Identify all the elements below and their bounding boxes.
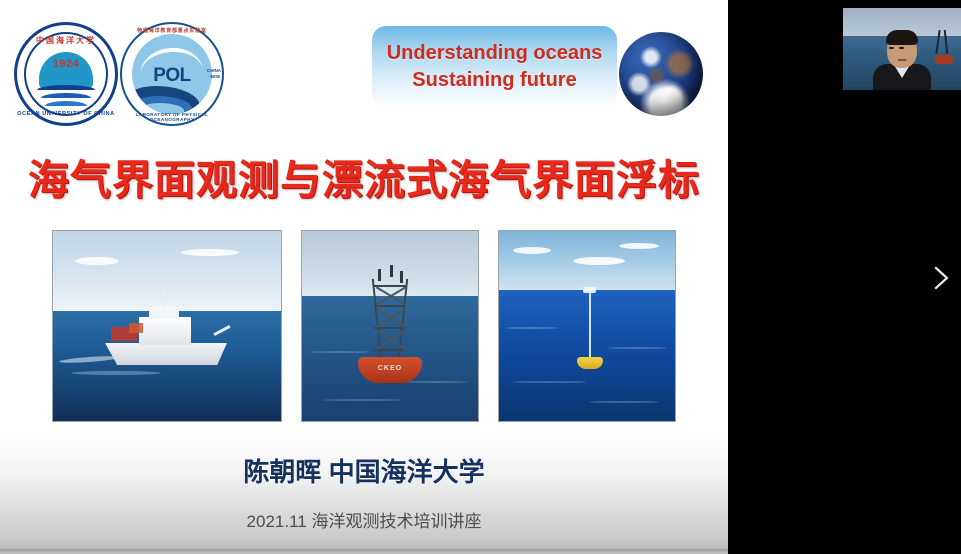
- webcam-buoy-mast-2: [944, 30, 948, 54]
- buoy-sensor-3: [400, 271, 403, 283]
- slide-subtitle: 2021.11 海洋观测技术培训讲座: [0, 507, 728, 532]
- slide-canvas: 中国海洋大学 1924 OCEAN UNIVERSITY OF CHINA PO…: [0, 0, 728, 554]
- buoy-ripple-1: [310, 351, 370, 353]
- webcam-buoy-mast-1: [935, 30, 940, 54]
- drifter-cloud-3: [619, 243, 659, 249]
- next-slide-arrow[interactable]: [927, 264, 955, 292]
- vessel-deck-equipment: [129, 323, 143, 333]
- slogan-line-2: Sustaining future: [412, 67, 576, 94]
- slogan-banner: Understanding oceans Sustaining future: [372, 26, 617, 108]
- drifter-cloud-2: [573, 257, 625, 265]
- presenter-line: 陈朝晖 中国海洋大学: [0, 452, 728, 489]
- physical-oceanography-laboratory-logo: POL 物理海洋教育部重点实验室 CHINA · MOE LABORATORY …: [120, 22, 224, 126]
- ouc-chinese-name: 中国海洋大学: [17, 35, 115, 46]
- photo-strip: CKEO: [0, 230, 728, 422]
- photo-drifting-buoy: [498, 230, 676, 422]
- buoy-ripple-3: [322, 399, 402, 401]
- buoy-hull-label: CKEO: [358, 365, 422, 372]
- pol-acronym: POL: [132, 65, 212, 87]
- drifter-cloud-1: [513, 247, 551, 254]
- buoy-ripple-2: [402, 381, 468, 383]
- drifter-sensor-vane: [583, 287, 596, 293]
- ocean-university-of-china-logo: 中国海洋大学 1924 OCEAN UNIVERSITY OF CHINA: [14, 22, 118, 126]
- vessel-bridge: [149, 305, 179, 319]
- tower-crossbar-4: [374, 349, 406, 351]
- ouc-founding-year: 1924: [17, 58, 115, 70]
- vessel-superstructure: [139, 317, 191, 345]
- vessel-wake-2: [71, 371, 161, 375]
- presenter-hair: [886, 30, 918, 45]
- photo-moored-buoy: CKEO: [301, 230, 479, 422]
- slide-title: 海气界面观测与漂流式海气界面浮标: [0, 146, 728, 206]
- ouc-wave-2: [41, 93, 91, 98]
- drifter-glint-2: [607, 347, 667, 349]
- presenter-figure: [873, 32, 931, 90]
- logo-row: 中国海洋大学 1924 OCEAN UNIVERSITY OF CHINA PO…: [14, 22, 224, 126]
- webcam-buoy-hull: [935, 55, 953, 64]
- buoy-sensor-1: [378, 269, 381, 281]
- photo-research-vessel: [52, 230, 282, 422]
- vessel-sky: [53, 231, 281, 311]
- drifter-glint-4: [589, 401, 659, 403]
- vessel-mast: [163, 289, 165, 307]
- earth-globe-icon: [619, 32, 703, 116]
- pol-disc: POL: [132, 34, 212, 114]
- drifter-float-hull: [577, 357, 603, 369]
- presenter-eye-left: [889, 47, 894, 49]
- buoy-sensor-2: [390, 265, 393, 277]
- ouc-english-name: OCEAN UNIVERSITY OF CHINA: [17, 111, 115, 117]
- ouc-wave-3: [45, 101, 87, 106]
- pol-ring-text-top: 物理海洋教育部重点实验室: [122, 27, 222, 34]
- tower-crossbar-3: [374, 327, 406, 329]
- pol-ring-text-bottom: LABORATORY OF PHYSICAL OCEANOGRAPHY: [122, 112, 222, 122]
- buoy-lattice-tower: [372, 279, 408, 359]
- drifter-glint-3: [513, 381, 587, 383]
- tower-crossbar-2: [374, 305, 406, 307]
- presenter-video-feed[interactable]: [843, 8, 961, 90]
- presenter-eye-right: [899, 47, 904, 49]
- ouc-wave-1: [37, 85, 95, 90]
- presenter-mouth: [898, 59, 907, 61]
- presentation-viewer: 中国海洋大学 1924 OCEAN UNIVERSITY OF CHINA PO…: [0, 0, 961, 554]
- webcam-background-buoy: [933, 30, 955, 64]
- vessel-hull: [105, 343, 227, 365]
- pol-ring-text-right: CHINA · MOE: [207, 68, 221, 79]
- vessel-cloud-2: [181, 249, 239, 256]
- slide-footer-rule: [0, 549, 728, 554]
- drifter-glint-1: [505, 327, 559, 329]
- drifter-mast: [589, 291, 591, 357]
- vessel-cloud-1: [75, 257, 119, 265]
- slogan-line-1: Understanding oceans: [387, 40, 603, 67]
